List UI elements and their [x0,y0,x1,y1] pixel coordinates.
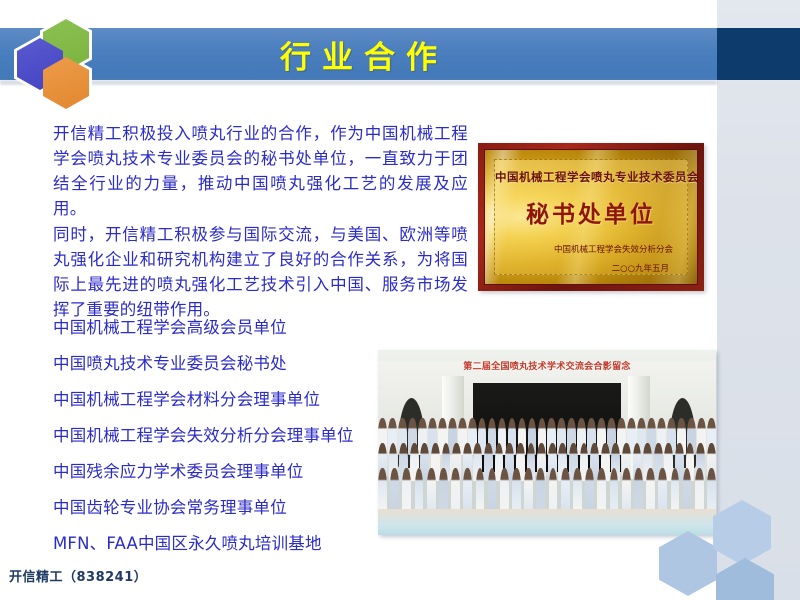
photo-person [597,468,606,511]
photo-person [476,468,485,511]
photo-person [683,468,692,511]
photo-person [585,468,594,511]
photo-banner-text: 第二届全国喷丸技术学术交流会合影留念 [405,356,689,376]
list-item: MFN、FAA中国区永久喷丸培训基地 [53,534,483,554]
plaque-text-panel: 中国机械工程学会喷丸专业技术委员会 秘书处单位 中国机械工程学会失效分析分会 二… [494,159,688,275]
photo-person [524,468,533,511]
paragraph-1: 开信精工积极投入喷丸行业的合作，作为中国机械工程学会喷丸技术专业委员会的秘书处单… [53,121,468,221]
photo-person [671,468,680,511]
plaque-gold-face: 中国机械工程学会喷丸专业技术委员会 秘书处单位 中国机械工程学会失效分析分会 二… [484,149,698,285]
photo-person [646,468,655,511]
plaque-main-text: 秘书处单位 [495,195,687,229]
list-item: 中国机械工程学会高级会员单位 [53,318,483,338]
plaque-date-text: 二○○九年五月 [495,262,669,274]
photo-person [402,468,411,511]
photo-person [561,468,570,511]
footer-company-label: 开信精工（838241） [9,566,147,585]
photo-person [536,468,545,511]
photo-person [500,468,509,511]
plaque-issuer-text: 中国机械工程学会失效分析分会 [495,243,673,255]
photo-crowd-row [378,468,716,511]
award-plaque-image: 中国机械工程学会喷丸专业技术委员会 秘书处单位 中国机械工程学会失效分析分会 二… [478,143,704,291]
paragraph-2: 同时，开信精工积极参与国际交流，与美国、欧洲等喷丸强化企业和研究机构建立了良好的… [53,222,468,322]
photo-person [427,468,436,511]
photo-ground [378,509,716,535]
photo-person [707,468,716,511]
group-photo-image: 第二届全国喷丸技术学术交流会合影留念 [378,350,716,535]
slide-canvas: 行业合作 开信精工积极投入喷丸行业的合作，作为中国机械工程学会喷丸技术专业委员会… [0,0,800,600]
plaque-title-text: 中国机械工程学会喷丸专业技术委员会 [495,169,687,185]
photo-person [573,468,582,511]
photo-person [415,468,424,511]
photo-person [549,468,558,511]
photo-person [378,468,387,511]
photo-crowd [378,418,716,511]
photo-person [488,468,497,511]
photo-person [390,468,399,511]
photo-person [695,468,704,511]
photo-person [463,468,472,511]
photo-person [658,468,667,511]
photo-person [451,468,460,511]
photo-person [512,468,521,511]
photo-person [622,468,631,511]
photo-person [439,468,448,511]
slide-content: 开信精工积极投入喷丸行业的合作，作为中国机械工程学会喷丸技术专业委员会的秘书处单… [0,0,800,600]
photo-person [634,468,643,511]
photo-person [610,468,619,511]
